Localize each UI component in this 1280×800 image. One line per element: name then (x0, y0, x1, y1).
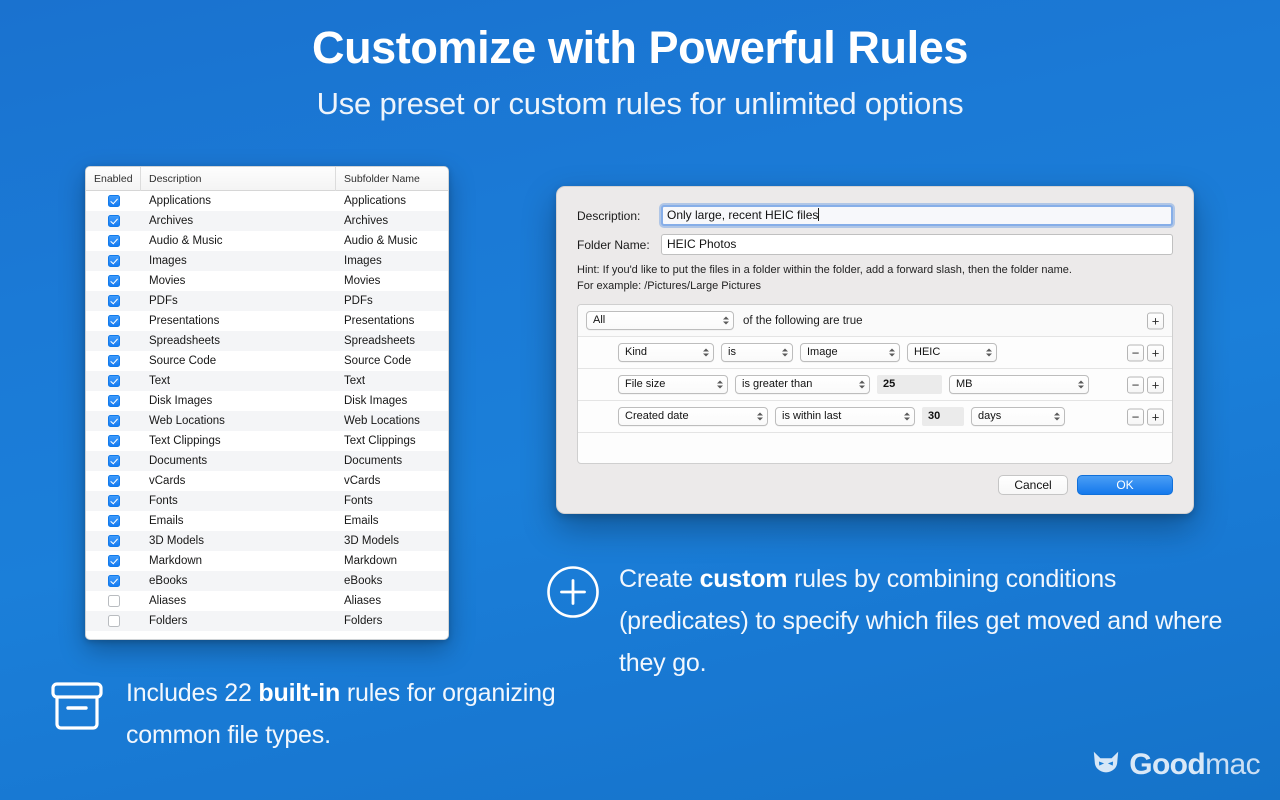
table-row[interactable]: SpreadsheetsSpreadsheets (86, 331, 448, 351)
chevron-updown-icon (781, 346, 788, 359)
row-subfolder-cell: Web Locations (336, 415, 448, 427)
enabled-checkbox[interactable] (108, 495, 120, 507)
match-scope-value: All (593, 314, 605, 326)
hint-line-2: For example: /Pictures/Large Pictures (577, 279, 1173, 295)
table-row[interactable]: 3D Models3D Models (86, 531, 448, 551)
row-enabled-cell (86, 455, 141, 467)
description-label: Description: (577, 209, 661, 223)
row-enabled-cell (86, 555, 141, 567)
chevron-updown-icon (888, 346, 895, 359)
predicate-subvalue-value: HEIC (914, 346, 940, 358)
hint-text: Hint: If you'd like to put the files in … (577, 263, 1173, 294)
predicate-match-row: All of the following are true + (578, 305, 1172, 337)
table-row[interactable]: vCardsvCards (86, 471, 448, 491)
row-description-cell: Emails (141, 515, 336, 527)
row-subfolder-cell: Aliases (336, 595, 448, 607)
row-enabled-cell (86, 615, 141, 627)
logo-bold: Good (1129, 748, 1205, 781)
predicate-unit-value: MB (956, 378, 973, 390)
row-enabled-cell (86, 575, 141, 587)
goodmac-wordmark: Goodmac (1129, 748, 1260, 782)
enabled-checkbox[interactable] (108, 355, 120, 367)
row-subfolder-cell: eBooks (336, 575, 448, 587)
folder-name-label: Folder Name: (577, 238, 661, 252)
row-description-cell: Text Clippings (141, 435, 336, 447)
remove-predicate-button[interactable]: − (1127, 376, 1144, 393)
row-enabled-cell (86, 295, 141, 307)
match-row-text: of the following are true (743, 315, 863, 327)
chevron-updown-icon (702, 346, 709, 359)
predicate-row-actions: − + (1124, 344, 1164, 361)
enabled-checkbox[interactable] (108, 295, 120, 307)
enabled-checkbox[interactable] (108, 435, 120, 447)
row-enabled-cell (86, 395, 141, 407)
row-subfolder-cell: Presentations (336, 315, 448, 327)
column-header-description[interactable]: Description (141, 167, 336, 191)
hero-header: Customize with Powerful Rules Use preset… (0, 22, 1280, 122)
row-subfolder-cell: Audio & Music (336, 235, 448, 247)
add-predicate-button[interactable]: + (1147, 408, 1164, 425)
row-subfolder-cell: Documents (336, 455, 448, 467)
row-enabled-cell (86, 255, 141, 267)
enabled-checkbox[interactable] (108, 195, 120, 207)
blurb-custom-rules-text: Create custom rules by combining conditi… (619, 558, 1245, 684)
rule-editor-dialog: Description: Only large, recent HEIC fil… (556, 186, 1194, 514)
chevron-updown-icon (985, 346, 992, 359)
predicate-unit-select-filesize[interactable]: MB (949, 375, 1089, 394)
table-row[interactable]: Disk ImagesDisk Images (86, 391, 448, 411)
row-description-cell: Archives (141, 215, 336, 227)
row-description-cell: Aliases (141, 595, 336, 607)
predicate-operator-value: is within last (782, 410, 841, 422)
table-row[interactable]: ApplicationsApplications (86, 191, 448, 211)
archive-box-icon (48, 678, 106, 741)
predicate-operator-value: is (728, 346, 736, 358)
blurb-right-strong: custom (700, 565, 788, 593)
blurb-builtin-rules: Includes 22 built-in rules for organizin… (48, 672, 568, 756)
blurb-builtin-rules-text: Includes 22 built-in rules for organizin… (126, 672, 568, 756)
enabled-checkbox[interactable] (108, 375, 120, 387)
row-subfolder-cell: Markdown (336, 555, 448, 567)
folder-name-field-row: Folder Name: HEIC Photos (577, 234, 1173, 255)
blurb-left-pre: Includes 22 (126, 679, 258, 707)
row-enabled-cell (86, 195, 141, 207)
row-enabled-cell (86, 235, 141, 247)
chevron-updown-icon (722, 314, 729, 327)
row-enabled-cell (86, 595, 141, 607)
row-enabled-cell (86, 315, 141, 327)
add-predicate-button[interactable]: + (1147, 312, 1164, 329)
chevron-updown-icon (716, 378, 723, 391)
row-description-cell: Spreadsheets (141, 335, 336, 347)
chevron-updown-icon (1077, 378, 1084, 391)
table-row[interactable]: Text ClippingsText Clippings (86, 431, 448, 451)
row-enabled-cell (86, 415, 141, 427)
predicate-unit-select-createddate[interactable]: days (971, 407, 1065, 426)
enabled-checkbox[interactable] (108, 215, 120, 227)
page-subtitle: Use preset or custom rules for unlimited… (0, 86, 1280, 122)
row-description-cell: Folders (141, 615, 336, 627)
enabled-checkbox[interactable] (108, 575, 120, 587)
table-row[interactable]: ArchivesArchives (86, 211, 448, 231)
table-row[interactable]: eBookseBooks (86, 571, 448, 591)
predicate-row: Kind is Image HEIC − + (578, 337, 1172, 369)
row-subfolder-cell: 3D Models (336, 535, 448, 547)
enabled-checkbox[interactable] (108, 395, 120, 407)
row-enabled-cell (86, 435, 141, 447)
row-description-cell: Applications (141, 195, 336, 207)
predicate-field-select-filesize[interactable]: File size (618, 375, 728, 394)
column-header-subfolder[interactable]: Subfolder Name (336, 167, 448, 191)
remove-predicate-button[interactable]: − (1127, 344, 1144, 361)
row-subfolder-cell: Disk Images (336, 395, 448, 407)
table-row[interactable]: PresentationsPresentations (86, 311, 448, 331)
row-description-cell: Documents (141, 455, 336, 467)
text-caret (818, 208, 819, 221)
predicate-field-select-kind[interactable]: Kind (618, 343, 714, 362)
enabled-checkbox[interactable] (108, 615, 120, 627)
chevron-updown-icon (903, 410, 910, 423)
row-description-cell: 3D Models (141, 535, 336, 547)
row-subfolder-cell: Applications (336, 195, 448, 207)
table-row[interactable]: PDFsPDFs (86, 291, 448, 311)
row-description-cell: Movies (141, 275, 336, 287)
page-title: Customize with Powerful Rules (0, 22, 1280, 74)
rules-table-body: ApplicationsApplicationsArchivesArchives… (86, 191, 448, 631)
hint-line-1: Hint: If you'd like to put the files in … (577, 263, 1173, 279)
blurb-left-strong: built-in (258, 679, 340, 707)
predicate-editor: All of the following are true + Kind is … (577, 304, 1173, 464)
predicate-field-value: File size (625, 378, 665, 390)
row-subfolder-cell: Emails (336, 515, 448, 527)
enabled-checkbox[interactable] (108, 455, 120, 467)
table-row[interactable]: ImagesImages (86, 251, 448, 271)
predicate-field-value: Created date (625, 410, 689, 422)
row-subfolder-cell: Images (336, 255, 448, 267)
predicate-subvalue-select-kind[interactable]: HEIC (907, 343, 997, 362)
row-description-cell: Fonts (141, 495, 336, 507)
enabled-checkbox[interactable] (108, 315, 120, 327)
ok-button[interactable]: OK (1077, 475, 1173, 495)
remove-predicate-button[interactable]: − (1127, 408, 1144, 425)
predicate-row-actions: − + (1124, 408, 1164, 425)
enabled-checkbox[interactable] (108, 235, 120, 247)
row-description-cell: Audio & Music (141, 235, 336, 247)
match-scope-select[interactable]: All (586, 311, 734, 330)
row-enabled-cell (86, 335, 141, 347)
row-enabled-cell (86, 275, 141, 287)
enabled-checkbox[interactable] (108, 255, 120, 267)
row-enabled-cell (86, 515, 141, 527)
row-description-cell: eBooks (141, 575, 336, 587)
description-input[interactable]: Only large, recent HEIC files (661, 205, 1173, 226)
predicate-row: File size is greater than 25 MB − + (578, 369, 1172, 401)
table-header-row: Enabled Description Subfolder Name (86, 167, 448, 191)
row-enabled-cell (86, 535, 141, 547)
row-subfolder-cell: Text Clippings (336, 435, 448, 447)
row-description-cell: Presentations (141, 315, 336, 327)
enabled-checkbox[interactable] (108, 415, 120, 427)
enabled-checkbox[interactable] (108, 535, 120, 547)
table-row[interactable]: AliasesAliases (86, 591, 448, 611)
row-subfolder-cell: Folders (336, 615, 448, 627)
predicate-row: Created date is within last 30 days − + (578, 401, 1172, 433)
predicate-operator-select-createddate[interactable]: is within last (775, 407, 915, 426)
table-row[interactable]: TextText (86, 371, 448, 391)
row-subfolder-cell: vCards (336, 475, 448, 487)
table-row[interactable]: DocumentsDocuments (86, 451, 448, 471)
predicate-field-value: Kind (625, 346, 647, 358)
row-enabled-cell (86, 215, 141, 227)
predicate-value-value: Image (807, 346, 838, 358)
column-header-enabled[interactable]: Enabled (86, 167, 141, 191)
add-predicate-button[interactable]: + (1147, 376, 1164, 393)
folder-name-input[interactable]: HEIC Photos (661, 234, 1173, 255)
enabled-checkbox[interactable] (108, 475, 120, 487)
predicate-empty-row (578, 433, 1172, 464)
plus-circle-icon (545, 564, 601, 625)
predicate-operator-select-kind[interactable]: is (721, 343, 793, 362)
row-subfolder-cell: Spreadsheets (336, 335, 448, 347)
dialog-buttons: Cancel OK (577, 475, 1173, 495)
rules-table-panel: Enabled Description Subfolder Name Appli… (85, 166, 449, 640)
table-row[interactable]: FoldersFolders (86, 611, 448, 631)
predicate-field-select-createddate[interactable]: Created date (618, 407, 768, 426)
predicate-value-select-kind[interactable]: Image (800, 343, 900, 362)
match-row-actions: + (1144, 312, 1164, 329)
table-row[interactable]: Web LocationsWeb Locations (86, 411, 448, 431)
predicate-number-input-createddate[interactable]: 30 (922, 407, 964, 426)
enabled-checkbox[interactable] (108, 275, 120, 287)
row-enabled-cell (86, 355, 141, 367)
row-subfolder-cell: Archives (336, 215, 448, 227)
predicate-unit-value: days (978, 410, 1001, 422)
description-field-row: Description: Only large, recent HEIC fil… (577, 205, 1173, 226)
enabled-checkbox[interactable] (108, 515, 120, 527)
row-subfolder-cell: PDFs (336, 295, 448, 307)
folder-name-input-value: HEIC Photos (667, 237, 736, 251)
row-description-cell: Markdown (141, 555, 336, 567)
row-description-cell: Web Locations (141, 415, 336, 427)
row-enabled-cell (86, 475, 141, 487)
goodmac-logo: Goodmac (1091, 747, 1260, 782)
chevron-updown-icon (1053, 410, 1060, 423)
table-row[interactable]: FontsFonts (86, 491, 448, 511)
row-subfolder-cell: Fonts (336, 495, 448, 507)
table-row[interactable]: MarkdownMarkdown (86, 551, 448, 571)
add-predicate-button[interactable]: + (1147, 344, 1164, 361)
predicate-operator-value: is greater than (742, 378, 812, 390)
row-description-cell: vCards (141, 475, 336, 487)
chevron-updown-icon (756, 410, 763, 423)
row-subfolder-cell: Source Code (336, 355, 448, 367)
row-description-cell: PDFs (141, 295, 336, 307)
table-row[interactable]: Audio & MusicAudio & Music (86, 231, 448, 251)
chevron-updown-icon (858, 378, 865, 391)
row-description-cell: Source Code (141, 355, 336, 367)
enabled-checkbox[interactable] (108, 595, 120, 607)
table-row[interactable]: EmailsEmails (86, 511, 448, 531)
predicate-operator-select-filesize[interactable]: is greater than (735, 375, 870, 394)
logo-light: mac (1205, 748, 1260, 781)
description-input-value: Only large, recent HEIC files (667, 208, 818, 222)
goodmac-mascot-icon (1091, 747, 1121, 782)
enabled-checkbox[interactable] (108, 335, 120, 347)
predicate-row-actions: − + (1124, 376, 1164, 393)
row-enabled-cell (86, 375, 141, 387)
row-subfolder-cell: Text (336, 375, 448, 387)
row-description-cell: Disk Images (141, 395, 336, 407)
enabled-checkbox[interactable] (108, 555, 120, 567)
row-description-cell: Images (141, 255, 336, 267)
row-enabled-cell (86, 495, 141, 507)
blurb-right-pre: Create (619, 565, 700, 593)
table-row[interactable]: Source CodeSource Code (86, 351, 448, 371)
blurb-custom-rules: Create custom rules by combining conditi… (545, 558, 1245, 684)
row-subfolder-cell: Movies (336, 275, 448, 287)
predicate-number-input-filesize[interactable]: 25 (877, 375, 942, 394)
table-row[interactable]: MoviesMovies (86, 271, 448, 291)
cancel-button[interactable]: Cancel (998, 475, 1068, 495)
row-description-cell: Text (141, 375, 336, 387)
